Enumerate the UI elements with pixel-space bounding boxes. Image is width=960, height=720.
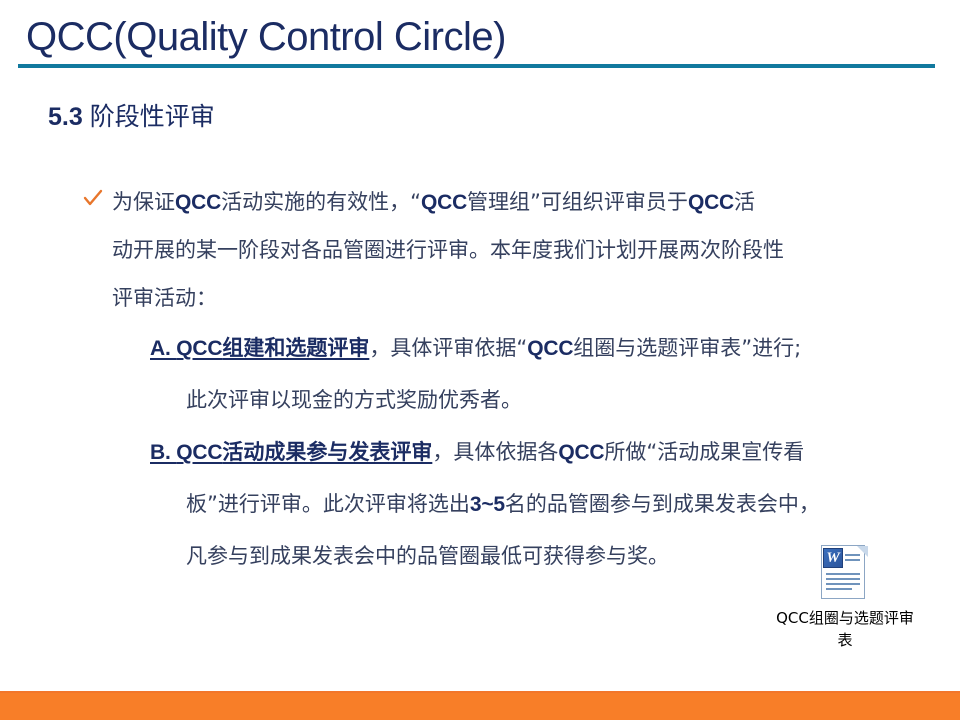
footer-bar: [0, 693, 960, 720]
text-segment: 凡参与到成果发表会中的品管圈最低可获得参与奖。: [186, 544, 669, 568]
doc-line-2: [845, 559, 860, 561]
page-title: QCC(Quality Control Circle): [26, 14, 506, 60]
word-badge-letter: W: [823, 548, 843, 568]
sub-item-continuation-line: 板”进行评审。此次评审将选出3~5名的品管圈参与到成果发表会中，: [150, 478, 940, 530]
text-segment: ，具体评审依据“: [369, 336, 527, 360]
text-segment: QCC: [688, 191, 734, 214]
sub-item-heading: B. QCC活动成果参与发表评审: [150, 440, 432, 464]
section-number: 5.3: [48, 103, 83, 131]
text-segment: ，具体依据各: [432, 440, 558, 464]
text-segment: 3~5: [470, 493, 505, 516]
text-segment: 名的品管圈参与到成果发表会中，: [505, 492, 820, 516]
sub-item-lead-line: A. QCC组建和选题评审，具体评审依据“QCC组圈与选题评审表”进行;: [150, 322, 940, 374]
text-segment: QCC: [175, 191, 221, 214]
text-segment: 为保证: [112, 190, 175, 214]
bullet-paragraph: 为保证QCC活动实施的有效性，“QCC管理组”可组织评审员于QCC活动开展的某一…: [112, 178, 918, 322]
text-segment: QCC: [558, 441, 604, 464]
doc-line-1: [845, 554, 860, 556]
text-segment: QCC: [421, 191, 467, 214]
sub-item-item-a: A. QCC组建和选题评审，具体评审依据“QCC组圈与选题评审表”进行;此次评审…: [150, 322, 940, 426]
sub-item-lead-line: B. QCC活动成果参与发表评审，具体依据各QCC所做“活动成果宣传看: [150, 426, 940, 478]
section-heading: 5.3 阶段性评审: [48, 100, 215, 134]
text-segment: QCC: [176, 441, 222, 464]
bullet-line: 评审活动：: [112, 274, 918, 322]
text-segment: 所做“活动成果宣传看: [604, 440, 804, 464]
text-segment: 活动实施的有效性，“: [221, 190, 421, 214]
text-segment: QCC: [527, 337, 573, 360]
doc-line-6: [826, 588, 852, 590]
presentation-slide: QCC(Quality Control Circle) 5.3 阶段性评审 为保…: [0, 0, 960, 720]
sub-item-continuation-line: 此次评审以现金的方式奖励优秀者。: [150, 374, 940, 426]
text-segment: 板”进行评审。此次评审将选出: [186, 492, 470, 516]
slide-title-block: QCC(Quality Control Circle): [0, 0, 960, 70]
text-segment: 管理组”可组织评审员于: [467, 190, 688, 214]
slide-body: 为保证QCC活动实施的有效性，“QCC管理组”可组织评审员于QCC活动开展的某一…: [0, 178, 960, 582]
text-segment: 活动成果参与发表评审: [222, 440, 432, 464]
word-document-icon[interactable]: W: [821, 545, 869, 601]
text-segment: B.: [150, 441, 176, 464]
document-caption: QCC组圈与选题评审表: [770, 607, 920, 651]
sub-item-heading: A. QCC组建和选题评审: [150, 336, 369, 360]
text-segment: 评审活动：: [112, 286, 217, 310]
doc-line-4: [826, 578, 860, 580]
check-icon: [82, 187, 104, 209]
bullet-text-lines: 为保证QCC活动实施的有效性，“QCC管理组”可组织评审员于QCC活动开展的某一…: [112, 178, 918, 322]
doc-line-5: [826, 583, 860, 585]
text-segment: A.: [150, 337, 176, 360]
doc-line-3: [826, 573, 860, 575]
text-segment: 此次评审以现金的方式奖励优秀者。: [186, 388, 522, 412]
title-divider-rule: [18, 64, 935, 68]
text-segment: 动开展的某一阶段对各品管圈进行评审。本年度我们计划开展两次阶段性: [112, 238, 784, 262]
text-segment: QCC: [176, 337, 222, 360]
text-segment: 活: [734, 190, 755, 214]
bullet-line: 为保证QCC活动实施的有效性，“QCC管理组”可组织评审员于QCC活: [112, 178, 918, 226]
text-segment: 组建和选题评审: [222, 336, 369, 360]
bullet-line: 动开展的某一阶段对各品管圈进行评审。本年度我们计划开展两次阶段性: [112, 226, 918, 274]
section-title: 阶段性评审: [90, 102, 215, 131]
text-segment: 组圈与选题评审表”进行;: [573, 336, 801, 360]
sub-items-container: A. QCC组建和选题评审，具体评审依据“QCC组圈与选题评审表”进行;此次评审…: [0, 322, 960, 582]
document-figure[interactable]: W QCC组圈与选题评审表: [770, 545, 920, 651]
